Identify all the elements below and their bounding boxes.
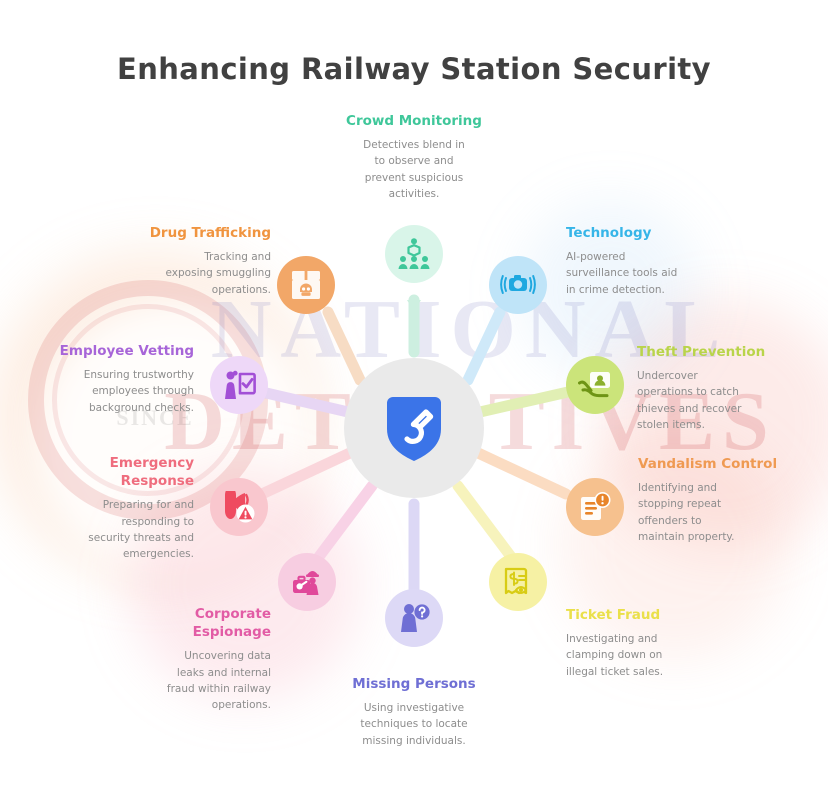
heading-theft-prevention: Theft Prevention [637,343,797,361]
report-alert-icon [579,491,611,523]
body-drug-trafficking: Tracking and exposing smuggling operatio… [108,249,271,298]
node-emergency-response[interactable] [210,478,268,536]
text-missing-persons: Missing Persons Using investigative tech… [337,675,491,749]
receipt-eye-icon [502,566,534,598]
body-corporate-espionage: Uncovering data leaks and internal fraud… [115,648,271,713]
infographic-canvas: SINCE NATIONAL DETECTIVES [0,0,828,800]
text-corporate-espionage: Corporate Espionage Uncovering data leak… [115,605,271,714]
spy-briefcase-icon [290,566,324,598]
hand-wallet-icon [578,369,612,401]
node-theft-prevention[interactable] [566,356,624,414]
shield-key-icon [383,393,445,463]
text-vandalism-control: Vandalism Control Identifying and stoppi… [638,455,793,545]
node-corporate-espionage[interactable] [278,553,336,611]
heading-crowd-monitoring: Crowd Monitoring [337,112,491,130]
person-checklist-icon [221,369,257,401]
body-employee-vetting: Ensuring trustworthy employees through b… [46,367,194,416]
heading-vandalism-control: Vandalism Control [638,455,793,473]
page-title: Enhancing Railway Station Security [0,52,828,86]
body-vandalism-control: Identifying and stopping repeat offender… [638,480,793,545]
node-drug-trafficking[interactable] [277,256,335,314]
text-ticket-fraud: Ticket Fraud Investigating and clamping … [566,606,726,680]
text-crowd-monitoring: Crowd Monitoring Detectives blend in to … [337,112,491,202]
node-technology[interactable] [489,256,547,314]
body-ticket-fraud: Investigating and clamping down on illeg… [566,631,726,680]
text-technology: Technology AI-powered surveillance tools… [566,224,736,298]
text-theft-prevention: Theft Prevention Undercover operations t… [637,343,797,433]
heading-employee-vetting: Employee Vetting [46,342,194,360]
heading-emergency-response: Emergency Response [48,454,194,490]
box-skull-icon [289,268,323,302]
node-missing-persons[interactable] [385,589,443,647]
body-technology: AI-powered surveillance tools aid in cri… [566,249,736,298]
text-drug-trafficking: Drug Trafficking Tracking and exposing s… [108,224,271,298]
surveillance-camera-icon [500,270,536,300]
crowd-people-icon [397,237,431,271]
text-emergency-response: Emergency Response Preparing for and res… [48,454,194,563]
node-vandalism-control[interactable] [566,478,624,536]
alarm-warning-icon [222,491,256,523]
body-crowd-monitoring: Detectives blend in to observe and preve… [337,137,491,202]
body-missing-persons: Using investigative techniques to locate… [337,700,491,749]
node-ticket-fraud[interactable] [489,553,547,611]
heading-ticket-fraud: Ticket Fraud [566,606,726,624]
body-emergency-response: Preparing for and responding to security… [48,497,194,562]
text-employee-vetting: Employee Vetting Ensuring trustworthy em… [46,342,194,416]
node-employee-vetting[interactable] [210,356,268,414]
heading-corporate-espionage: Corporate Espionage [115,605,271,641]
center-hub [344,358,484,498]
node-crowd-monitoring[interactable] [385,225,443,283]
heading-drug-trafficking: Drug Trafficking [108,224,271,242]
person-question-icon [398,602,430,634]
heading-missing-persons: Missing Persons [337,675,491,693]
heading-technology: Technology [566,224,736,242]
body-theft-prevention: Undercover operations to catch thieves a… [637,368,797,433]
